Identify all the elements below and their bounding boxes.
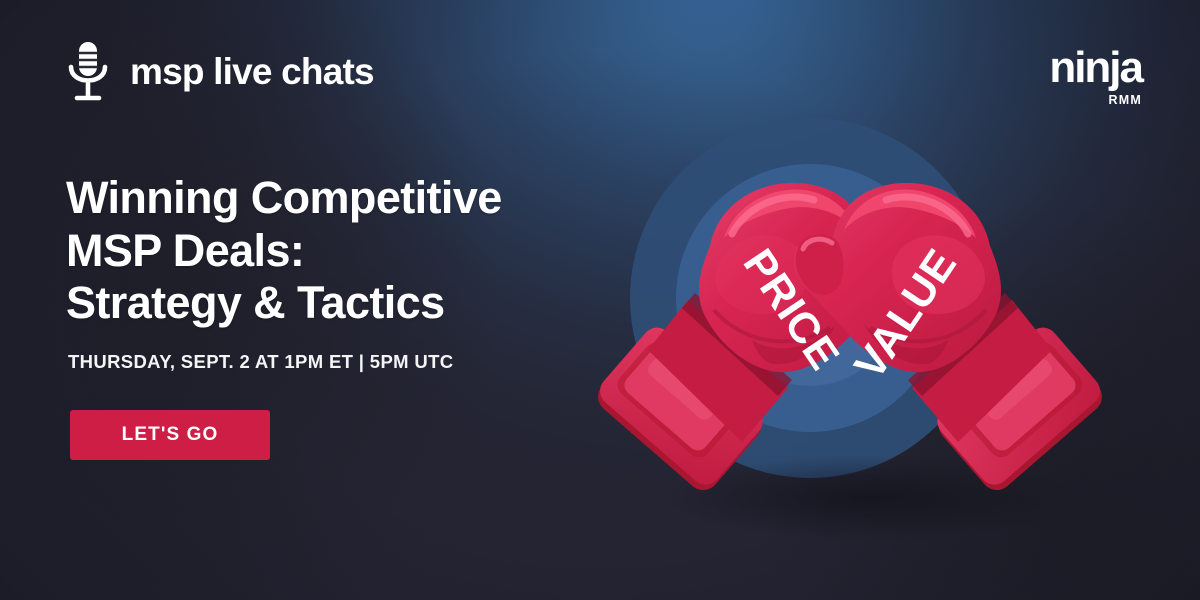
webinar-promo-banner: PRICE — [0, 0, 1200, 600]
ninjarmm-logo[interactable]: ninja RMM — [1006, 46, 1142, 108]
ninja-wordmark: ninja — [1006, 46, 1142, 90]
page-title: Winning Competitive MSP Deals: Strategy … — [66, 172, 502, 330]
microphone-icon — [64, 40, 112, 102]
schedule-text: THURSDAY, SEPT. 2 AT 1PM ET | 5PM UTC — [68, 351, 453, 373]
boxing-gloves-illustration: PRICE — [592, 150, 1108, 490]
lets-go-button[interactable]: LET'S GO — [70, 410, 270, 460]
msp-live-chats-logo[interactable]: msp live chats — [64, 40, 374, 102]
ninja-rmm-suffix: RMM — [1109, 94, 1142, 107]
logo-wordmark: msp live chats — [130, 53, 374, 90]
